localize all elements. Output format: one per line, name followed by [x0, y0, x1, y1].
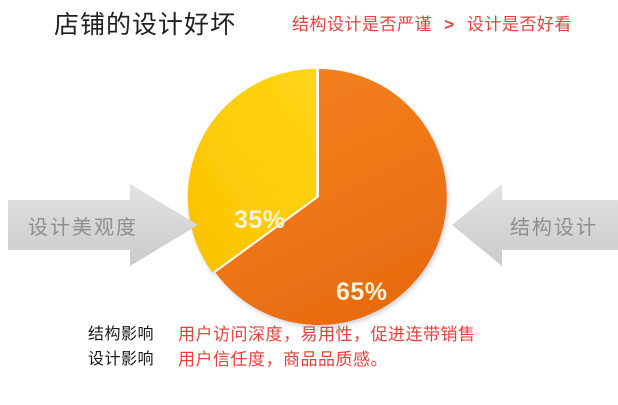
arrow-structure-label: 结构设计 — [510, 182, 598, 268]
arrow-aesthetics-label: 设计美观度 — [28, 182, 138, 268]
impact-key-structure: 结构影响 — [88, 322, 154, 347]
impact-note-keys: 结构影响 设计影响 — [88, 322, 154, 372]
infographic-canvas: 店铺的设计好坏 结构设计是否严谨 > 设计是否好看 — [0, 0, 618, 405]
impact-value-structure: 用户访问深度，易用性，促进连带销售 — [178, 322, 476, 347]
pie-chart-svg — [188, 66, 450, 328]
impact-value-design: 用户信任度，商品品质感。 — [178, 347, 476, 372]
arrow-structure: 结构设计 — [452, 182, 618, 268]
pie-label-aesthetics: 35% — [234, 206, 286, 235]
comparison-headline: 结构设计是否严谨 > 设计是否好看 — [292, 12, 572, 38]
greater-than-icon: > — [437, 12, 461, 38]
impact-notes: 结构影响 设计影响 用户访问深度，易用性，促进连带销售 用户信任度，商品品质感。 — [88, 322, 476, 372]
impact-key-design: 设计影响 — [88, 347, 154, 372]
arrow-aesthetics: 设计美观度 — [8, 182, 198, 268]
page-title: 店铺的设计好坏 — [54, 8, 236, 42]
pie-chart: 35% 65% — [188, 66, 450, 328]
impact-note-values: 用户访问深度，易用性，促进连带销售 用户信任度，商品品质感。 — [178, 322, 476, 372]
comparison-right-term: 设计是否好看 — [467, 15, 572, 34]
pie-label-structure: 65% — [336, 278, 388, 307]
comparison-left-term: 结构设计是否严谨 — [292, 15, 432, 34]
